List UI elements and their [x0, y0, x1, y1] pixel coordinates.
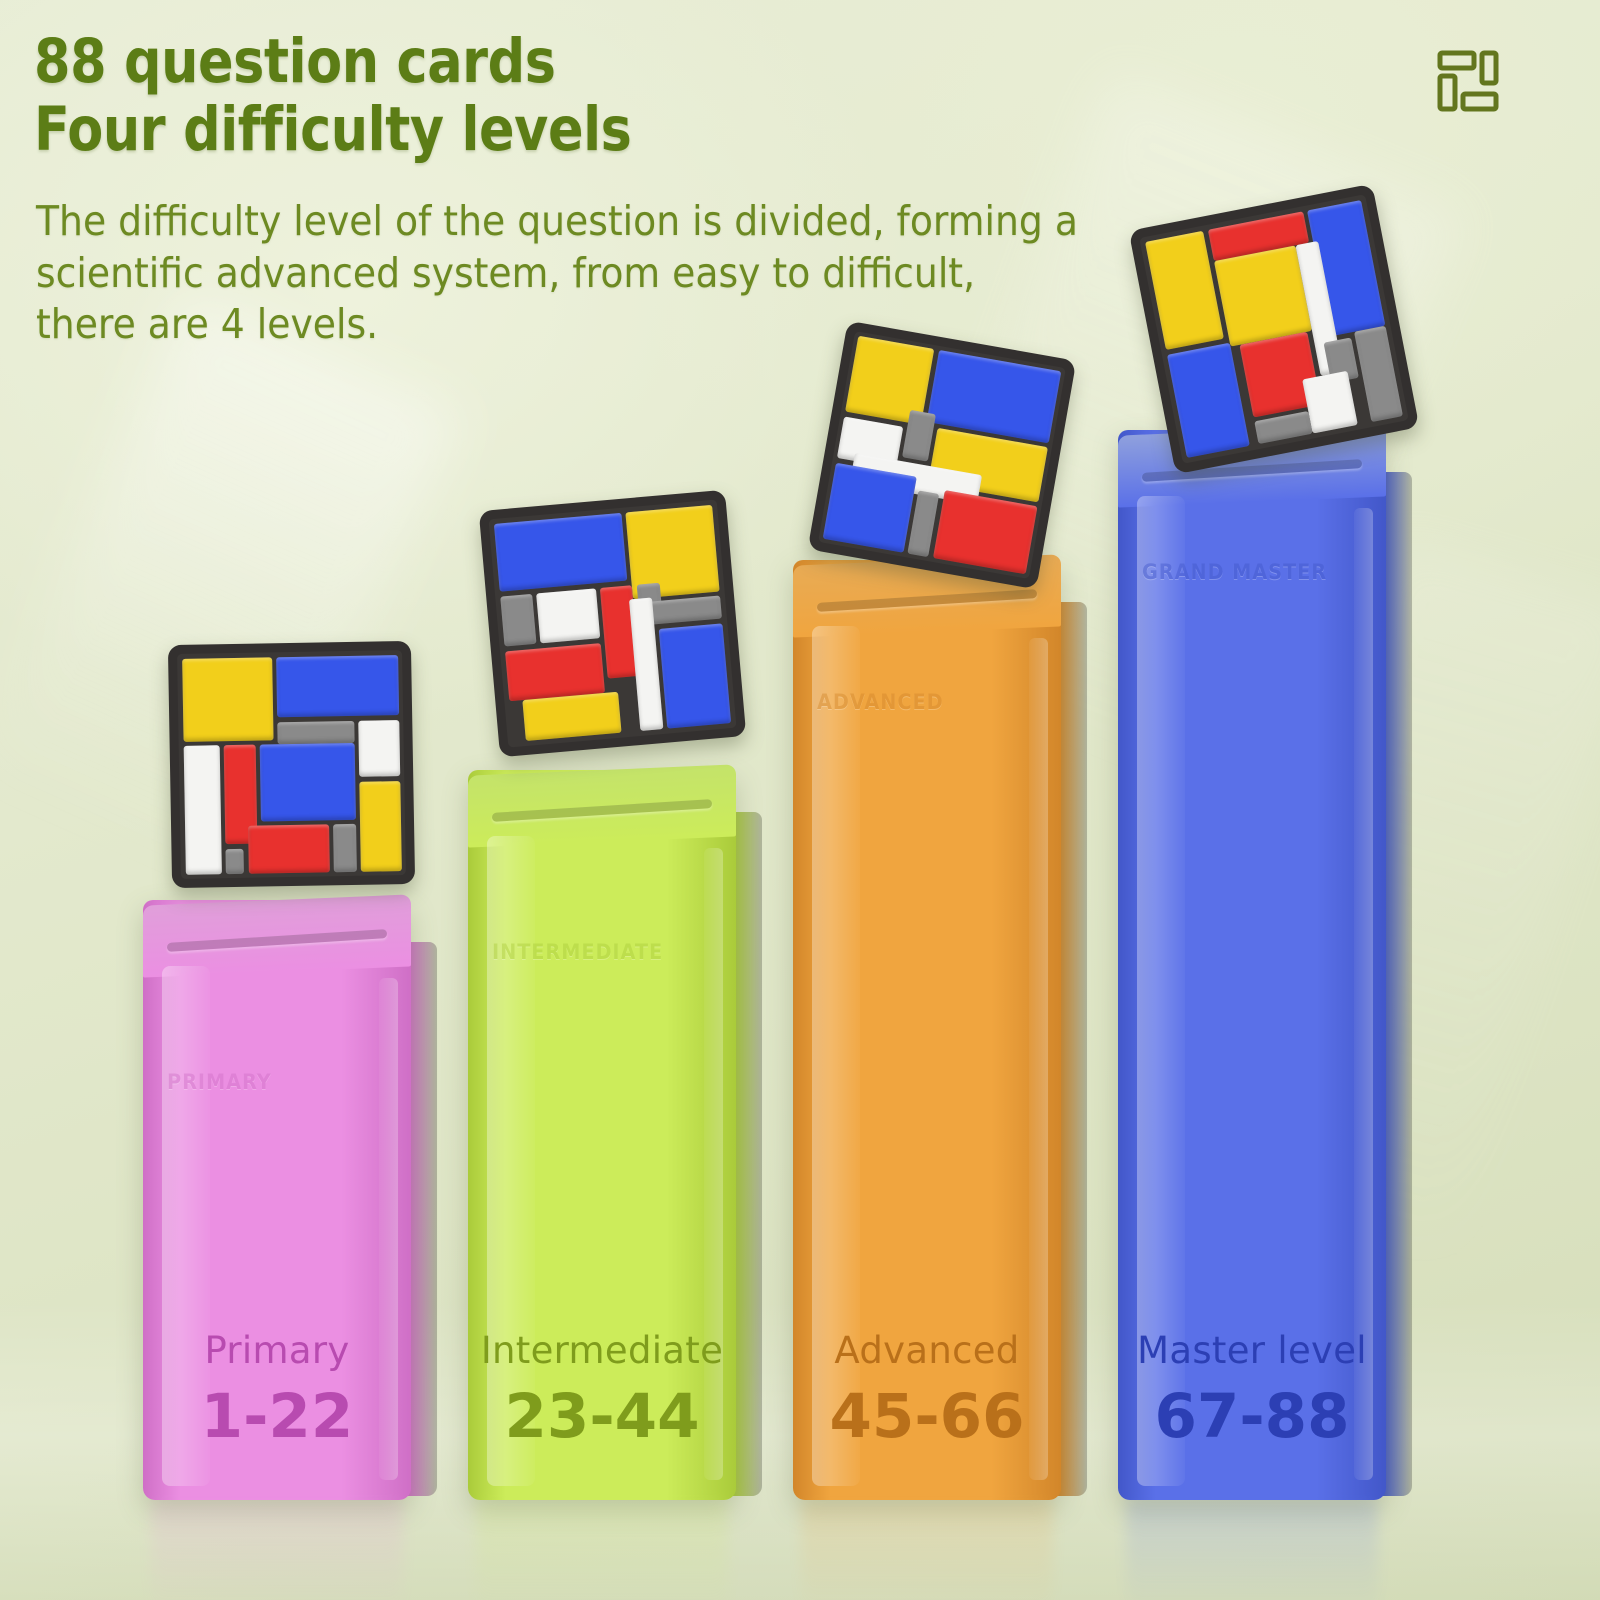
puzzle-piece-yellow[interactable] [182, 657, 273, 742]
box-top-face [468, 764, 736, 847]
level-range: 1-22 [143, 1381, 411, 1452]
box-side-face [407, 942, 437, 1496]
puzzle-primary[interactable] [168, 641, 415, 888]
level-box-intermediate[interactable]: INTERMEDIATEIntermediate23-44 [468, 770, 736, 1500]
level-name: Primary [143, 1329, 411, 1372]
page-description: The difficulty level of the question is … [36, 196, 1085, 351]
puzzle-piece-blue[interactable] [823, 462, 916, 552]
puzzle-piece-gray[interactable] [277, 721, 354, 745]
puzzle-intermediate[interactable] [479, 490, 747, 758]
level-name: Master level [1118, 1329, 1386, 1372]
puzzle-grid [1139, 194, 1409, 464]
card-slot [167, 929, 387, 952]
puzzle-piece-red[interactable] [248, 825, 330, 874]
level-range: 23-44 [468, 1381, 736, 1452]
box-side-face [1382, 472, 1412, 1496]
puzzle-piece-blue[interactable] [260, 743, 356, 821]
puzzle-piece-gray[interactable] [225, 849, 243, 874]
puzzle-piece-blue[interactable] [493, 512, 627, 592]
level-range: 67-88 [1118, 1381, 1386, 1452]
puzzle-piece-yellow[interactable] [359, 781, 401, 872]
puzzle-piece-gray[interactable] [500, 594, 536, 647]
level-box-advanced[interactable]: ADVANCEDAdvanced45-66 [793, 560, 1061, 1500]
puzzle-piece-red[interactable] [933, 490, 1038, 574]
puzzle-piece-gray[interactable] [333, 824, 356, 872]
puzzle-grid [488, 499, 736, 747]
puzzle-piece-white[interactable] [358, 720, 399, 777]
title-line-1: 88 question cards [34, 26, 556, 97]
level-name: Advanced [793, 1329, 1061, 1372]
puzzle-piece-white[interactable] [183, 746, 221, 875]
puzzle-piece-white[interactable] [536, 588, 600, 643]
puzzle-grid [818, 331, 1066, 579]
level-name: Intermediate [468, 1329, 736, 1372]
level-box-master-level[interactable]: GRAND MASTERMaster level67-88 [1118, 430, 1386, 1500]
box-top-face [143, 894, 411, 977]
card-slot [492, 799, 712, 822]
box-reflection [476, 1500, 728, 1600]
box-side-face [732, 812, 762, 1496]
puzzle-piece-gray[interactable] [1354, 326, 1403, 422]
box-reflection [1126, 1500, 1378, 1600]
puzzle-master[interactable] [1129, 184, 1420, 475]
puzzle-grid [177, 650, 406, 879]
puzzle-piece-blue[interactable] [276, 655, 399, 718]
product-infographic: 88 question cards Four difficulty levels… [0, 0, 1600, 1600]
box-reflection [801, 1500, 1053, 1600]
box-side-face [1057, 602, 1087, 1496]
title-line-2: Four difficulty levels [34, 96, 631, 164]
puzzle-blocks-logo [1437, 50, 1499, 112]
puzzle-piece-blue[interactable] [1166, 342, 1249, 458]
puzzle-piece-yellow[interactable] [523, 692, 622, 741]
box-reflection [151, 1500, 403, 1600]
puzzle-piece-blue[interactable] [659, 623, 732, 729]
level-box-primary[interactable]: PRIMARYPrimary1-22 [143, 900, 411, 1500]
page-title: 88 question cards Four difficulty levels [34, 28, 631, 165]
level-range: 45-66 [793, 1381, 1061, 1452]
puzzle-piece-gray[interactable] [1255, 411, 1314, 444]
puzzle-piece-yellow[interactable] [1214, 245, 1312, 347]
puzzle-piece-red[interactable] [505, 643, 605, 702]
card-slot [817, 589, 1037, 612]
puzzle-advanced[interactable] [808, 321, 1077, 590]
